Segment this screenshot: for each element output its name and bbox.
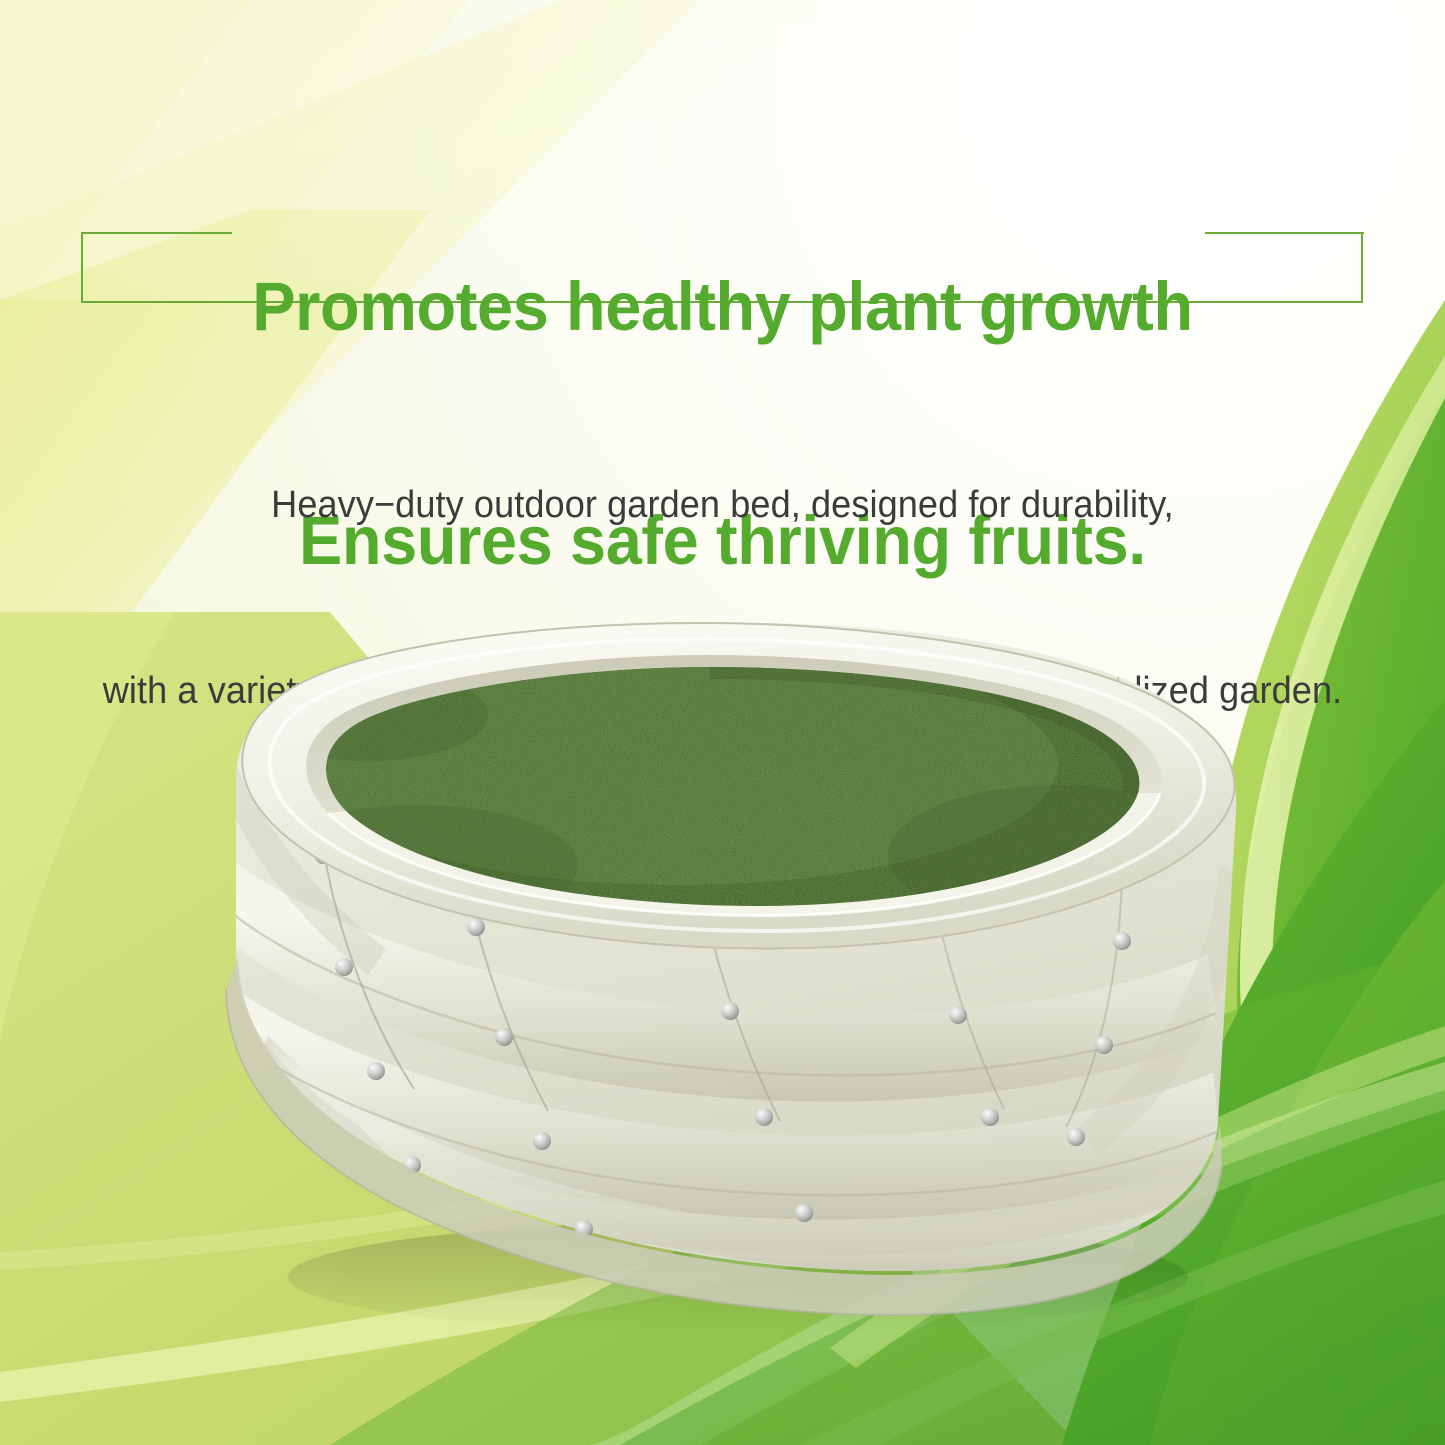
marketing-banner: Promotes healthy plant growth Ensures sa…: [0, 0, 1445, 1445]
bolt-icon: [495, 1028, 513, 1046]
bolt-icon: [755, 1108, 773, 1126]
product-image-oval-raised-garden-bed: [118, 565, 1273, 1365]
bolt-icon: [1113, 932, 1131, 950]
bolt-icon: [981, 1108, 999, 1126]
bolt-icon: [367, 1062, 385, 1080]
bolt-icon: [795, 1204, 813, 1222]
bolt-icon: [1095, 1036, 1113, 1054]
subtitle-line-1: Heavy−duty outdoor garden bed, designed …: [36, 474, 1409, 536]
bolt-icon: [721, 1002, 739, 1020]
bolt-icon: [1067, 1128, 1085, 1146]
bolt-icon: [533, 1132, 551, 1150]
bolt-icon: [335, 958, 353, 976]
bolt-icon: [949, 1006, 967, 1024]
headline-line-1: Promotes healthy plant growth: [43, 268, 1401, 346]
bolt-icon: [467, 918, 485, 936]
